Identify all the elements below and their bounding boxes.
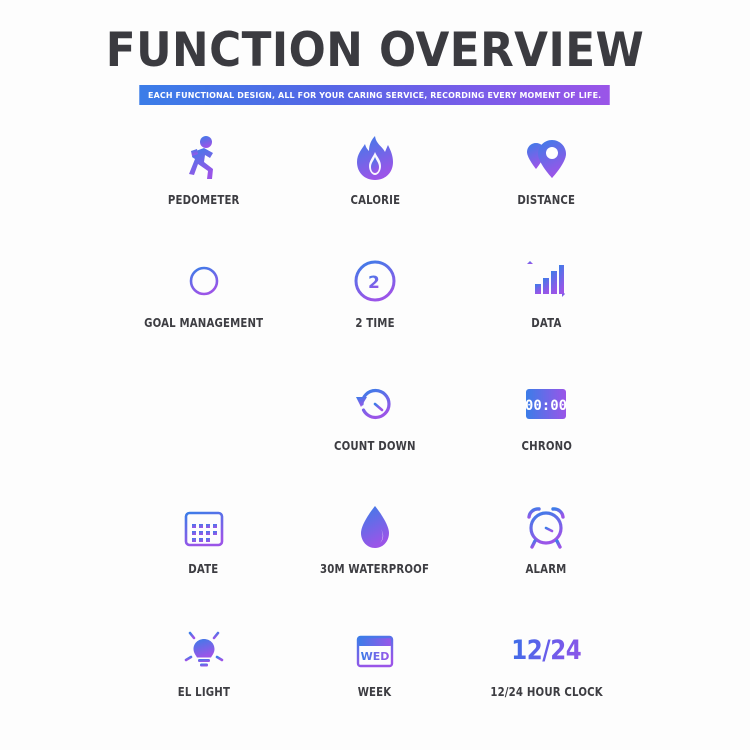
calendar-icon	[177, 500, 231, 554]
digital-display-icon: 00:00	[519, 377, 573, 431]
feature-item-chrono[interactable]: 00:00 CHRONO	[461, 373, 632, 496]
water-drop-icon	[348, 500, 402, 554]
page-title: FUNCTION OVERVIEW	[26, 26, 724, 75]
feature-item-waterproof[interactable]: 30M WATERPROOF	[289, 496, 460, 619]
dual-time-clock-icon: 2	[348, 254, 402, 308]
feature-label: WEEK	[358, 684, 392, 699]
feature-label: 30M WATERPROOF	[320, 561, 429, 576]
feature-item-el-light[interactable]: EL LIGHT	[118, 619, 289, 742]
feature-item-pedometer[interactable]: PEDOMETER	[118, 127, 289, 250]
running-person-icon	[177, 131, 231, 185]
flame-icon	[348, 131, 402, 185]
hour-format-text: 12/24	[511, 637, 581, 664]
feature-grid: PEDOMETER CALORIE DISTANCE	[0, 127, 750, 742]
feature-item-alarm[interactable]: ALARM	[461, 496, 632, 619]
subtitle-wrapper: EACH FUNCTIONAL DESIGN, ALL FOR YOUR CAR…	[0, 85, 750, 105]
feature-item-calorie[interactable]: CALORIE	[289, 127, 460, 250]
feature-item-hour-clock[interactable]: 12/24 12/24 HOUR CLOCK	[461, 619, 632, 742]
feature-item-2-time[interactable]: 2 2 TIME	[289, 250, 460, 373]
feature-item-date[interactable]: DATE	[118, 496, 289, 619]
feature-label: DISTANCE	[517, 192, 575, 207]
week-calendar-icon: WED	[348, 623, 402, 677]
feature-label: 2 TIME	[355, 315, 394, 330]
function-overview-infographic: FUNCTION OVERVIEW EACH FUNCTIONAL DESIGN…	[0, 0, 750, 750]
feature-item-count-down[interactable]: COUNT DOWN	[289, 373, 460, 496]
feature-label: PEDOMETER	[168, 192, 240, 207]
alarm-clock-icon	[519, 500, 573, 554]
header: FUNCTION OVERVIEW EACH FUNCTIONAL DESIGN…	[0, 0, 750, 105]
feature-label: CALORIE	[350, 192, 400, 207]
feature-label: EL LIGHT	[178, 684, 230, 699]
feature-label: CHRONO	[521, 438, 572, 453]
feature-label: GOAL MANAGEMENT	[144, 315, 263, 330]
bar-chart-icon	[519, 254, 573, 308]
feature-item-data[interactable]: DATA	[461, 250, 632, 373]
chrono-display-text: 00:00	[526, 398, 566, 414]
twelve-twentyfour-text-icon: 12/24	[519, 623, 573, 677]
target-crosshair-icon	[177, 254, 231, 308]
week-day-text: WED	[361, 650, 390, 663]
feature-label: 12/24 HOUR CLOCK	[490, 684, 602, 699]
feature-label: DATA	[531, 315, 561, 330]
feature-label: ALARM	[526, 561, 567, 576]
feature-item-distance[interactable]: DISTANCE	[461, 127, 632, 250]
light-bulb-icon	[177, 623, 231, 677]
feature-label: COUNT DOWN	[334, 438, 416, 453]
subtitle-banner: EACH FUNCTIONAL DESIGN, ALL FOR YOUR CAR…	[140, 85, 611, 105]
feature-label: DATE	[189, 561, 219, 576]
countdown-clock-icon	[348, 377, 402, 431]
location-pin-icon	[519, 131, 573, 185]
feature-item-goal-management[interactable]: GOAL MANAGEMENT	[118, 250, 289, 373]
feature-item-week[interactable]: WED WEEK	[289, 619, 460, 742]
